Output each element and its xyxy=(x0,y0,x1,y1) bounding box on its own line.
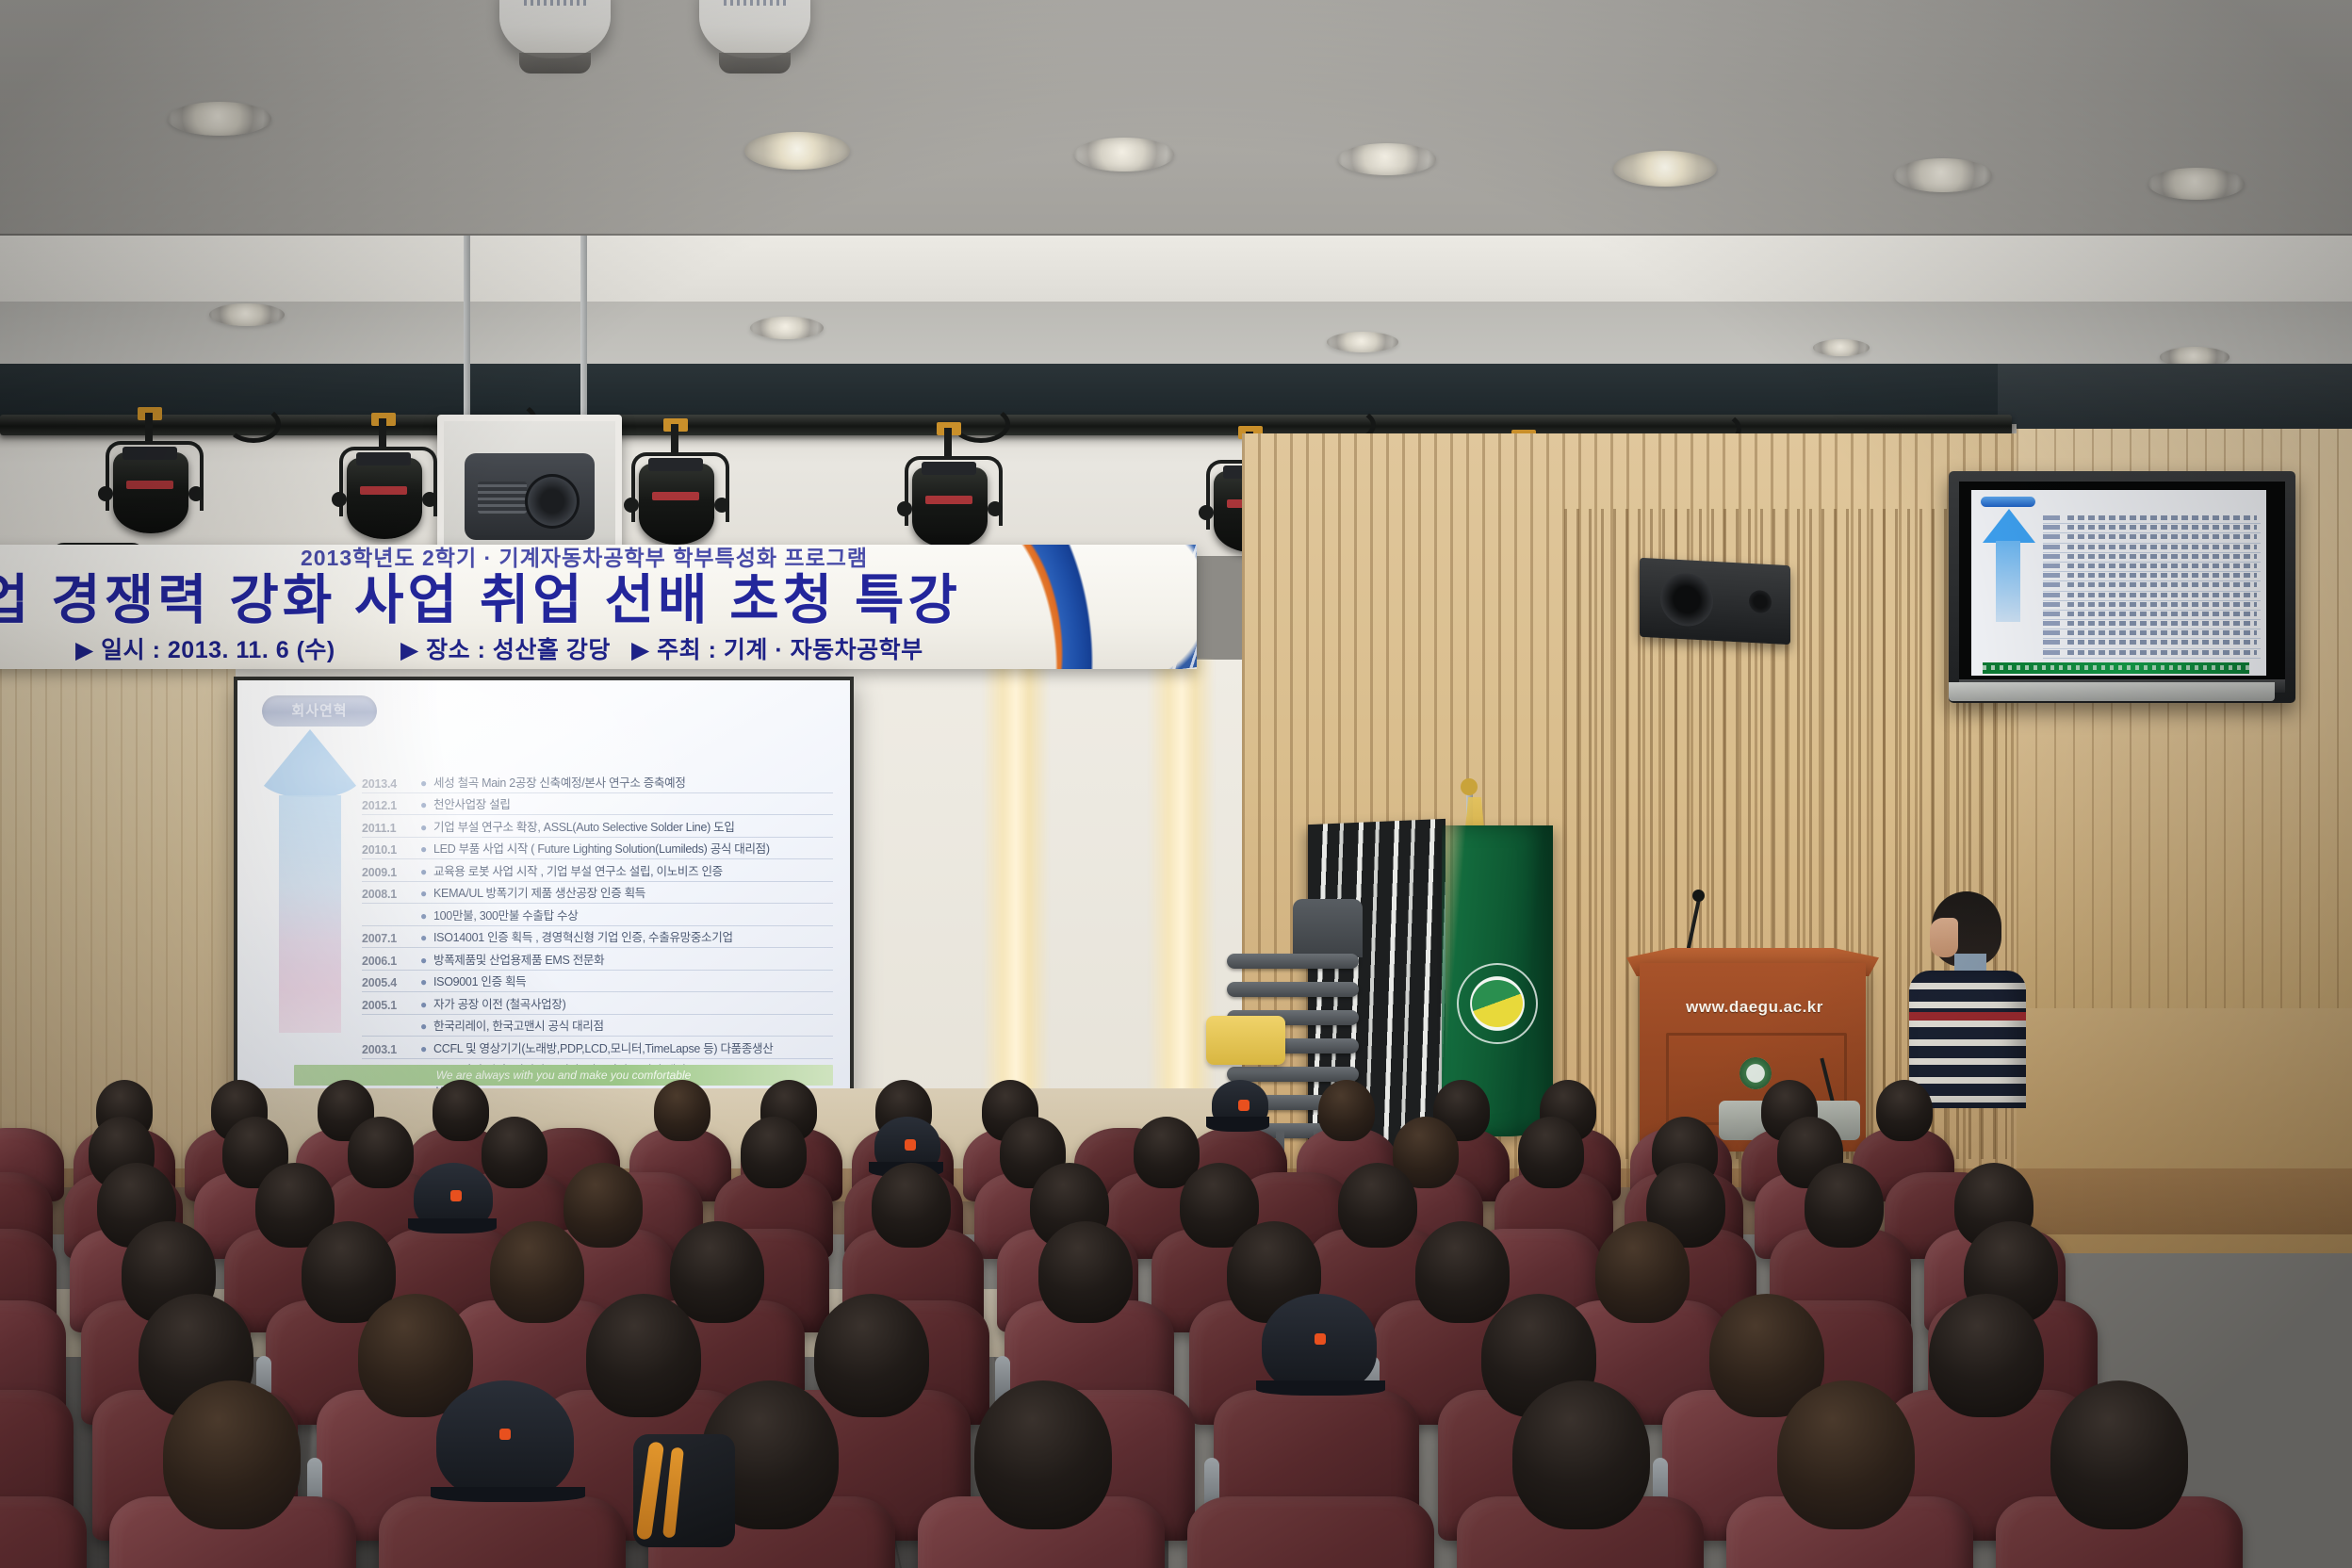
projector-lens-icon xyxy=(525,474,580,529)
audience-head xyxy=(974,1380,1113,1528)
slide-timeline-row: 2005.4●ISO9001 인증 획득 xyxy=(362,971,833,993)
bullet-icon: ● xyxy=(420,998,433,1014)
tv-slide-line xyxy=(2043,544,2261,553)
slide-row-year: 2006.1 xyxy=(362,955,420,970)
slide-row-year: 2013.4 xyxy=(362,777,420,792)
cap-brim xyxy=(431,1487,585,1502)
cap-logo-icon xyxy=(1238,1100,1249,1111)
stage-par-light xyxy=(901,441,999,554)
banner-date: ▶ 일시 : 2013. 11. 6 (수) xyxy=(75,635,335,665)
chair-seat xyxy=(1227,954,1359,969)
bullet-icon: ● xyxy=(420,865,433,881)
flag-seal-emblem-icon xyxy=(1472,980,1523,1027)
bullet-icon: ● xyxy=(420,1020,433,1036)
slide-row-year: 2005.1 xyxy=(362,999,420,1014)
audience-head xyxy=(1595,1221,1690,1323)
banner-swoosh-dots xyxy=(1083,545,1197,669)
podium-university-emblem-icon xyxy=(1739,1057,1772,1089)
ceiling-soffit xyxy=(0,236,2352,302)
tv-slide-line xyxy=(2043,524,2261,533)
tv-slide-line xyxy=(2043,592,2261,601)
bullet-icon: ● xyxy=(420,1042,433,1058)
floor-backpack xyxy=(633,1434,735,1547)
slide-row-text: LED 부품 사업 시작 ( Future Lighting Solution(… xyxy=(433,839,833,858)
banner-host: ▶ 주최 : 기계 · 자동차공학부 xyxy=(631,635,923,665)
tv-slide-lines xyxy=(2043,514,2261,659)
slide-row-text: KEMA/UL 방폭기기 제품 생산공장 인증 획득 xyxy=(433,883,833,903)
podium-url-label: www.daegu.ac.kr xyxy=(1655,997,1854,1018)
slide-footer-tagline: We are always with you and make you comf… xyxy=(294,1065,833,1086)
slide-footer-bar: We are always with you and make you comf… xyxy=(294,1065,833,1086)
auditorium-scene: 2013학년도 2학기 · 기계자동차공학부 학부특성화 프로그램 업 경쟁력 … xyxy=(0,0,2352,1568)
audience-head xyxy=(1805,1163,1884,1248)
stage-par-light xyxy=(335,432,433,545)
bullet-icon: ● xyxy=(420,975,433,991)
audience-head xyxy=(433,1080,489,1141)
bullet-icon: ● xyxy=(420,798,433,814)
audience-head xyxy=(1777,1380,1916,1528)
cap-logo-icon xyxy=(905,1139,916,1151)
audience-cap xyxy=(1212,1080,1268,1129)
audience-head xyxy=(1876,1080,1933,1141)
tv-slide-line xyxy=(2043,514,2261,524)
slide-timeline-row: ●100만불, 300만불 수출탑 수상 xyxy=(362,904,833,926)
projection-screen-surface: 회사연혁 2013.4●세성 철곡 Main 2공장 신축예정/본사 연구소 증… xyxy=(237,680,850,1095)
slide-row-text: 세성 철곡 Main 2공장 신축예정/본사 연구소 증축예정 xyxy=(433,773,833,792)
ceiling-downlight xyxy=(1894,158,1992,192)
slide-arrow-shaft xyxy=(279,795,341,1033)
ceiling-downlight xyxy=(2148,168,2245,200)
audience-head xyxy=(163,1380,302,1528)
audience-head xyxy=(482,1117,548,1188)
audience-seat[interactable] xyxy=(379,1496,626,1568)
backpack-strap xyxy=(636,1441,664,1540)
flag-finial xyxy=(1461,778,1478,795)
slide-row-year: 2008.1 xyxy=(362,888,420,903)
tv-slide-line xyxy=(2043,601,2261,611)
slide-timeline-row: 2009.1●교육용 로봇 사업 시작 , 기업 부설 연구소 설립, 이노비즈… xyxy=(362,859,833,882)
slide-row-year xyxy=(362,923,420,925)
chair-backrest xyxy=(1293,899,1363,957)
slide-timeline-row: 2005.1●자가 공장 이전 (철곡사업장) xyxy=(362,992,833,1015)
slide-section-badge: 회사연혁 xyxy=(262,695,377,727)
slide-badge-label: 회사연혁 xyxy=(262,695,377,727)
presenter-striped-sweater xyxy=(1909,971,2026,1108)
bullet-icon: ● xyxy=(420,842,433,858)
audience-head xyxy=(1318,1080,1375,1141)
slide-row-year: 2011.1 xyxy=(362,822,420,837)
slide-timeline-row: 2006.1●방폭제품및 산업용제품 EMS 전문화 xyxy=(362,948,833,971)
speaker-cone-icon xyxy=(1660,572,1713,628)
audience-head xyxy=(2050,1380,2189,1528)
speaker-tweeter-icon xyxy=(1749,590,1772,613)
slide-timeline-row: 2011.1●기업 부설 연구소 확장, ASSL(Auto Selective… xyxy=(362,815,833,838)
tv-slide-line xyxy=(2043,611,2261,620)
audience-head xyxy=(654,1080,710,1141)
projector-mount-rod xyxy=(464,236,470,420)
slide-row-text: 천안사업장 설립 xyxy=(433,794,833,814)
dark-fascia-right xyxy=(1998,364,2352,433)
cap-brim xyxy=(1206,1117,1270,1132)
tv-slide-line xyxy=(2043,581,2261,591)
slide-arrow-graphic xyxy=(254,729,366,1033)
yellow-cloth-bundle xyxy=(1206,1016,1285,1065)
stage-par-light xyxy=(628,437,726,550)
cap-logo-icon xyxy=(499,1429,511,1440)
tv-slide-line xyxy=(2043,620,2261,629)
audience-head xyxy=(563,1163,643,1248)
banner-place: ▶ 장소 : 성산홀 강당 xyxy=(400,635,611,665)
tv-mirrored-slide xyxy=(1971,490,2266,676)
slide-row-year: 2012.1 xyxy=(362,799,420,814)
presenter-standing xyxy=(1896,891,2037,1108)
slide-timeline-row: 2003.1●CCFL 및 영상기기(노래방,PDP,LCD,모니터,TimeL… xyxy=(362,1037,833,1059)
presenter-sweater-red-stripe xyxy=(1909,1012,2026,1021)
tv-slide-arrow-head xyxy=(1983,509,2035,543)
audience-head xyxy=(1512,1380,1651,1528)
slide-timeline-row: ●한국리레이, 한국고맨시 공식 대리점 xyxy=(362,1015,833,1037)
audience-head xyxy=(1415,1221,1511,1323)
slide-row-text: 방폭제품및 산업용제품 EMS 전문화 xyxy=(433,950,833,970)
slide-row-year: 2003.1 xyxy=(362,1043,420,1058)
tv-slide-line xyxy=(2043,572,2261,581)
slide-row-text: ISO9001 인증 획득 xyxy=(433,972,833,991)
tv-slide-line xyxy=(2043,563,2261,572)
slide-arrow-head xyxy=(254,729,366,797)
audience-cap xyxy=(436,1380,575,1499)
bullet-icon: ● xyxy=(420,821,433,837)
ceiling-downlight xyxy=(1338,143,1436,175)
banner-title: 업 경쟁력 강화 사업 취업 선배 초청 특강 xyxy=(0,567,1101,633)
audience-head xyxy=(1338,1163,1417,1248)
cable-loop xyxy=(226,405,281,443)
slide-row-text: 자가 공장 이전 (철곡사업장) xyxy=(433,994,833,1014)
tv-slide-arrow-shaft xyxy=(1996,541,2020,622)
slide-timeline-row: 2007.1●ISO14001 인증 획득 , 경영혁신형 기업 인증, 수출유… xyxy=(362,926,833,949)
ceiling-upper xyxy=(0,0,2352,236)
audience-head xyxy=(1518,1117,1585,1188)
audience-cap xyxy=(414,1163,493,1231)
tv-slide-line xyxy=(2043,553,2261,563)
ceiling-downlight xyxy=(1074,138,1174,171)
podium-microphone-head-icon xyxy=(1692,890,1705,902)
tv-screen: SAMSUNG xyxy=(1959,482,2285,693)
audience-head xyxy=(348,1117,415,1188)
audience-seat[interactable] xyxy=(1187,1496,1434,1568)
banner-swoosh-graphic xyxy=(951,545,1197,669)
ceiling-projector xyxy=(437,415,622,562)
audience-head xyxy=(1929,1294,2044,1417)
audience-head xyxy=(1038,1221,1134,1323)
ceiling-downlight xyxy=(750,317,824,339)
ceiling-downlight xyxy=(209,303,285,326)
audience-cap xyxy=(1262,1294,1377,1393)
slide-row-year: 2007.1 xyxy=(362,932,420,947)
bullet-icon: ● xyxy=(420,887,433,903)
wall-tv-monitor: SAMSUNG xyxy=(1949,471,2295,703)
tv-slide-badge xyxy=(1981,497,2035,507)
projector-body xyxy=(465,453,595,540)
ceiling-downlight xyxy=(744,132,850,170)
slide-timeline-rows: 2013.4●세성 철곡 Main 2공장 신축예정/본사 연구소 증축예정20… xyxy=(362,771,833,1095)
slide-row-text: 교육용 로봇 사업 시작 , 기업 부설 연구소 설립, 이노비즈 인증 xyxy=(433,861,833,881)
chair-seat xyxy=(1227,1067,1359,1082)
slide-timeline-row: 2010.1●LED 부품 사업 시작 ( Future Lighting So… xyxy=(362,838,833,860)
slide-row-year xyxy=(362,1034,420,1036)
tv-slide-line xyxy=(2043,533,2261,543)
slide-row-text: 기업 부설 연구소 확장, ASSL(Auto Selective Solder… xyxy=(433,817,833,837)
audience-seat[interactable] xyxy=(0,1496,87,1568)
backpack-strap xyxy=(662,1447,684,1539)
audience-head xyxy=(872,1163,951,1248)
slide-row-text: ISO14001 인증 획득 , 경영혁신형 기업 인증, 수출유망중소기업 xyxy=(433,927,833,947)
tv-slide-footer xyxy=(1983,662,2249,674)
ceiling-downlight xyxy=(1813,339,1870,356)
tv-wall-mount xyxy=(1949,682,2275,701)
audience-head xyxy=(814,1294,929,1417)
bullet-icon: ● xyxy=(420,931,433,947)
cap-brim xyxy=(408,1218,497,1233)
wall-speaker xyxy=(1640,558,1790,645)
slide-timeline-row: 2013.4●세성 철곡 Main 2공장 신축예정/본사 연구소 증축예정 xyxy=(362,771,833,793)
slide-row-text: 100만불, 300만불 수출탑 수상 xyxy=(433,906,833,925)
stage-par-light xyxy=(102,426,200,539)
chair-seat xyxy=(1227,982,1359,997)
projector-vent xyxy=(478,482,527,514)
slide-row-year: 2005.4 xyxy=(362,976,420,991)
slide-row-year: 2010.1 xyxy=(362,843,420,858)
audience-head xyxy=(586,1294,701,1417)
slide-row-year: 2009.1 xyxy=(362,866,420,881)
projector-mount-rod xyxy=(580,236,587,420)
tv-slide-line xyxy=(2043,649,2261,659)
slide-row-text: 한국리레이, 한국고맨시 공식 대리점 xyxy=(433,1016,833,1036)
ceiling-downlight xyxy=(1613,151,1717,187)
ceiling-downlight xyxy=(1327,332,1398,352)
slide-timeline-row: 2008.1●KEMA/UL 방폭기기 제품 생산공장 인증 획득 xyxy=(362,882,833,905)
cap-logo-icon xyxy=(450,1190,462,1201)
event-banner: 2013학년도 2학기 · 기계자동차공학부 학부특성화 프로그램 업 경쟁력 … xyxy=(0,545,1197,669)
cap-brim xyxy=(1256,1380,1385,1396)
cap-logo-icon xyxy=(1315,1333,1326,1345)
tv-slide-line xyxy=(2043,629,2261,639)
audience-head xyxy=(490,1221,585,1323)
slide-row-text: CCFL 및 영상기기(노래방,PDP,LCD,모니터,TimeLapse 등)… xyxy=(433,1038,833,1058)
bullet-icon: ● xyxy=(420,776,433,792)
audience-head xyxy=(670,1221,765,1323)
audience-head xyxy=(741,1117,808,1188)
projection-screen: 회사연혁 2013.4●세성 철곡 Main 2공장 신축예정/본사 연구소 증… xyxy=(234,677,854,1099)
presenter-face xyxy=(1930,918,1958,957)
bullet-icon: ● xyxy=(420,954,433,970)
tv-slide-line xyxy=(2043,639,2261,648)
ceiling-downlight xyxy=(168,102,271,136)
bullet-icon: ● xyxy=(420,909,433,925)
slide-timeline-row: 2012.1●천안사업장 설립 xyxy=(362,793,833,816)
